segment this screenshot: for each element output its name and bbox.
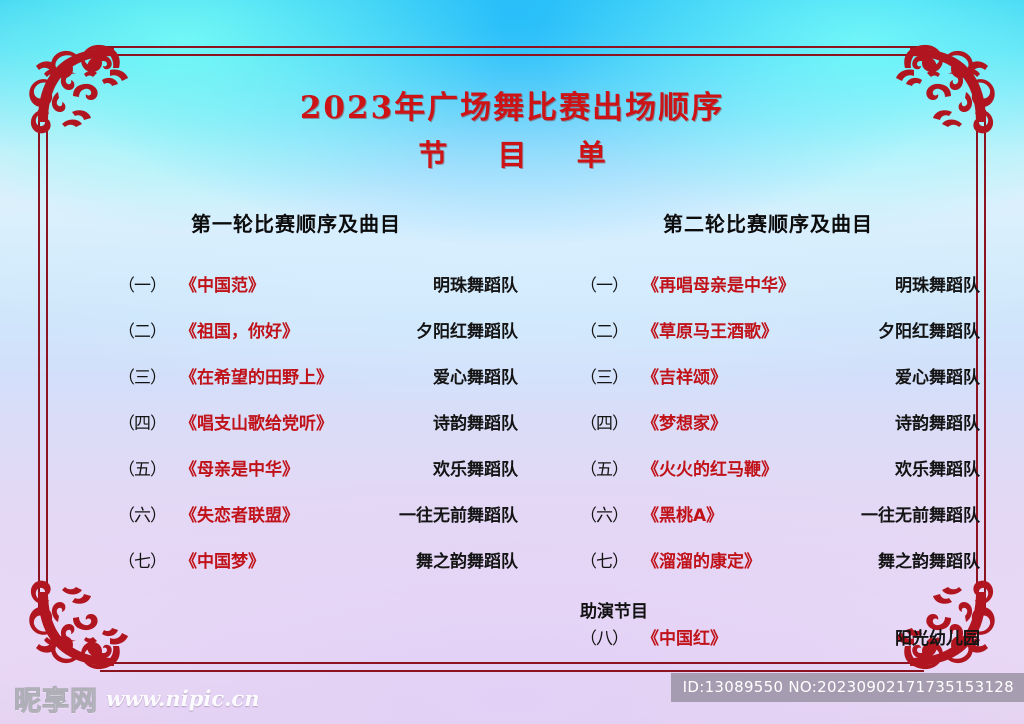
program-index: （二） [580, 317, 642, 342]
program-team: 爱心舞蹈队 [423, 363, 518, 388]
program-song: 《溜溜的康定》 [642, 547, 761, 572]
program-song: 《在希望的田野上》 [180, 363, 333, 388]
program-song: 《吉祥颂》 [642, 363, 727, 388]
image-id-badge: ID:13089550 NO:20230902171735153128 [671, 673, 1024, 702]
program-song: 《母亲是中华》 [180, 455, 299, 480]
border-right-outer [984, 110, 986, 614]
program-team: 明珠舞蹈队 [885, 271, 980, 296]
program-song: 《梦想家》 [642, 409, 727, 434]
page-subtitle: 节 目 单 [0, 132, 1024, 178]
program-row: （六） 《黑桃A》 一往无前舞蹈队 [580, 501, 980, 547]
program-index: （七） [118, 547, 180, 572]
program-index: （二） [118, 317, 180, 342]
program-index: （一） [118, 271, 180, 296]
program-team: 阳光幼儿园 [885, 624, 980, 649]
program-index: （五） [118, 455, 180, 480]
program-team: 夕阳红舞蹈队 [868, 317, 980, 342]
program-song: 《唱支山歌给党听》 [180, 409, 333, 434]
program-song: 《失恋者联盟》 [180, 501, 299, 526]
program-song: 《草原马王酒歌》 [642, 317, 778, 342]
site-url-text: www.nipic.cn [106, 686, 260, 711]
border-left-inner [46, 110, 48, 614]
program-row: （五） 《火火的红马鞭》 欢乐舞蹈队 [580, 455, 980, 501]
program-row: （六） 《失恋者联盟》 一往无前舞蹈队 [118, 501, 518, 547]
program-team: 明珠舞蹈队 [423, 271, 518, 296]
program-index: （八） [580, 624, 642, 649]
title-block: 2023年广场舞比赛出场顺序 节 目 单 [0, 88, 1024, 178]
program-song: 《中国红》 [642, 624, 727, 649]
program-column-round-2: 第二轮比赛顺序及曲目 （一） 《再唱母亲是中华》 明珠舞蹈队 （二） 《草原马王… [580, 208, 980, 664]
border-bottom-outer [100, 670, 924, 672]
program-song: 《中国梦》 [180, 547, 265, 572]
program-row-guest: （八） 《中国红》 阳光幼儿园 [580, 624, 980, 664]
program-song: 《火火的红马鞭》 [642, 455, 778, 480]
site-logo-text: 昵享网 [14, 679, 98, 718]
program-team: 夕阳红舞蹈队 [406, 317, 518, 342]
program-row: （四） 《梦想家》 诗韵舞蹈队 [580, 409, 980, 455]
site-watermark: 昵享网 www.nipic.cn [14, 679, 260, 718]
program-team: 欢乐舞蹈队 [885, 455, 980, 480]
program-column-round-1: 第一轮比赛顺序及曲目 （一） 《中国范》 明珠舞蹈队 （二） 《祖国，你好》 夕… [118, 208, 518, 593]
program-song: 《再唱母亲是中华》 [642, 271, 795, 296]
column-heading: 第一轮比赛顺序及曲目 [118, 208, 518, 237]
border-top-inner [100, 54, 924, 56]
border-top-outer [100, 46, 924, 48]
column-heading: 第二轮比赛顺序及曲目 [580, 208, 980, 237]
program-row: （三） 《在希望的田野上》 爱心舞蹈队 [118, 363, 518, 409]
program-row: （五） 《母亲是中华》 欢乐舞蹈队 [118, 455, 518, 501]
program-song: 《黑桃A》 [642, 501, 723, 526]
program-index: （七） [580, 547, 642, 572]
program-index: （五） [580, 455, 642, 480]
program-team: 爱心舞蹈队 [885, 363, 980, 388]
page-title: 2023年广场舞比赛出场顺序 [0, 88, 1024, 128]
program-index: （四） [580, 409, 642, 434]
program-song: 《祖国，你好》 [180, 317, 299, 342]
program-row: （七） 《中国梦》 舞之韵舞蹈队 [118, 547, 518, 593]
program-index: （一） [580, 271, 642, 296]
program-row: （一） 《中国范》 明珠舞蹈队 [118, 271, 518, 317]
program-team: 诗韵舞蹈队 [885, 409, 980, 434]
program-row: （四） 《唱支山歌给党听》 诗韵舞蹈队 [118, 409, 518, 455]
corner-ornament-bottom-left [18, 578, 138, 688]
poster-canvas: 2023年广场舞比赛出场顺序 节 目 单 第一轮比赛顺序及曲目 （一） 《中国范… [0, 0, 1024, 724]
program-team: 一往无前舞蹈队 [389, 501, 518, 526]
program-index: （三） [118, 363, 180, 388]
program-row: （二） 《祖国，你好》 夕阳红舞蹈队 [118, 317, 518, 363]
border-left-outer [38, 110, 40, 614]
program-song: 《中国范》 [180, 271, 265, 296]
program-row: （七） 《溜溜的康定》 舞之韵舞蹈队 [580, 547, 980, 593]
program-team: 舞之韵舞蹈队 [406, 547, 518, 572]
guest-performance-heading: 助演节目 [580, 597, 980, 622]
program-team: 一往无前舞蹈队 [851, 501, 980, 526]
program-team: 诗韵舞蹈队 [423, 409, 518, 434]
program-row: （二） 《草原马王酒歌》 夕阳红舞蹈队 [580, 317, 980, 363]
program-row: （三） 《吉祥颂》 爱心舞蹈队 [580, 363, 980, 409]
program-index: （六） [118, 501, 180, 526]
program-team: 欢乐舞蹈队 [423, 455, 518, 480]
program-team: 舞之韵舞蹈队 [868, 547, 980, 572]
program-index: （四） [118, 409, 180, 434]
program-row: （一） 《再唱母亲是中华》 明珠舞蹈队 [580, 271, 980, 317]
program-index: （六） [580, 501, 642, 526]
program-index: （三） [580, 363, 642, 388]
